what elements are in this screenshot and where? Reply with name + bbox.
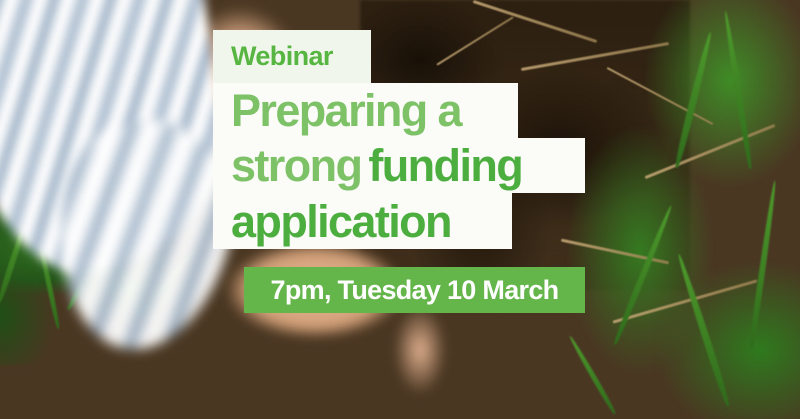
date-banner: 7pm, Tuesday 10 March	[244, 267, 585, 313]
headline-line-3: application	[231, 199, 451, 244]
headline-line-2-part-2: funding	[368, 143, 522, 188]
headline-line-1-panel: Preparing a	[213, 83, 518, 138]
headline-line-2-part-1: strong	[231, 143, 361, 188]
headline-line-1: Preparing a	[231, 88, 461, 133]
webinar-promo-banner: Webinar Preparing a strongfunding applic…	[0, 0, 800, 419]
eyebrow-label: Webinar	[231, 41, 333, 72]
eyebrow-panel: Webinar	[213, 30, 371, 83]
headline-line-3-panel: application	[213, 193, 512, 249]
headline-line-2-panel: strongfunding	[213, 138, 585, 193]
headline-block: Preparing a strongfunding application	[213, 83, 585, 249]
grass-right-region	[550, 0, 800, 419]
date-label: 7pm, Tuesday 10 March	[271, 275, 559, 306]
